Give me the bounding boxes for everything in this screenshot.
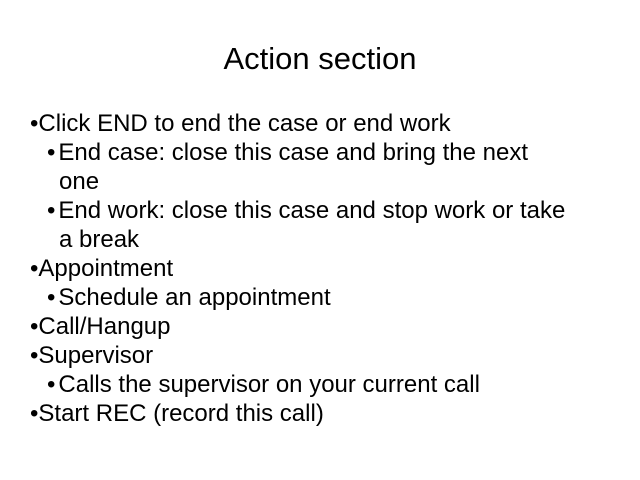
list-item[interactable]: •End case: close this case and bring the… xyxy=(30,138,626,167)
list-item-label: Schedule an appointment xyxy=(58,284,330,311)
list-item-label: Supervisor xyxy=(38,342,153,369)
list-item-continuation: one xyxy=(30,167,626,196)
list-item-label: End work: close this case and stop work … xyxy=(58,197,565,224)
list-item[interactable]: •Schedule an appointment xyxy=(30,283,626,312)
bullet-icon: • xyxy=(47,138,58,167)
list-item-label: Start REC (record this call) xyxy=(38,400,323,427)
list-item-label: Calls the supervisor on your current cal… xyxy=(58,371,480,398)
list-item[interactable]: •Call/Hangup xyxy=(30,312,626,341)
slide-canvas: Action section •Click END to end the cas… xyxy=(0,0,640,480)
list-item-continuation: a break xyxy=(30,225,626,254)
bullet-icon: • xyxy=(47,370,58,399)
list-item[interactable]: •Start REC (record this call) xyxy=(30,399,626,428)
list-item-label: Appointment xyxy=(38,255,173,282)
list-item[interactable]: •Appointment xyxy=(30,254,626,283)
bullet-list: •Click END to end the case or end work •… xyxy=(30,109,626,428)
list-item-label: Click END to end the case or end work xyxy=(38,110,450,137)
bullet-icon: • xyxy=(47,196,58,225)
list-item-label: a break xyxy=(59,226,139,253)
list-item[interactable]: •Click END to end the case or end work xyxy=(30,109,626,138)
list-item[interactable]: •Supervisor xyxy=(30,341,626,370)
list-item-label: End case: close this case and bring the … xyxy=(58,139,528,166)
bullet-icon: • xyxy=(47,283,58,312)
list-item[interactable]: •End work: close this case and stop work… xyxy=(30,196,626,225)
page-title: Action section xyxy=(0,40,640,78)
list-item[interactable]: •Calls the supervisor on your current ca… xyxy=(30,370,626,399)
list-item-label: Call/Hangup xyxy=(38,313,170,340)
list-item-label: one xyxy=(59,168,99,195)
